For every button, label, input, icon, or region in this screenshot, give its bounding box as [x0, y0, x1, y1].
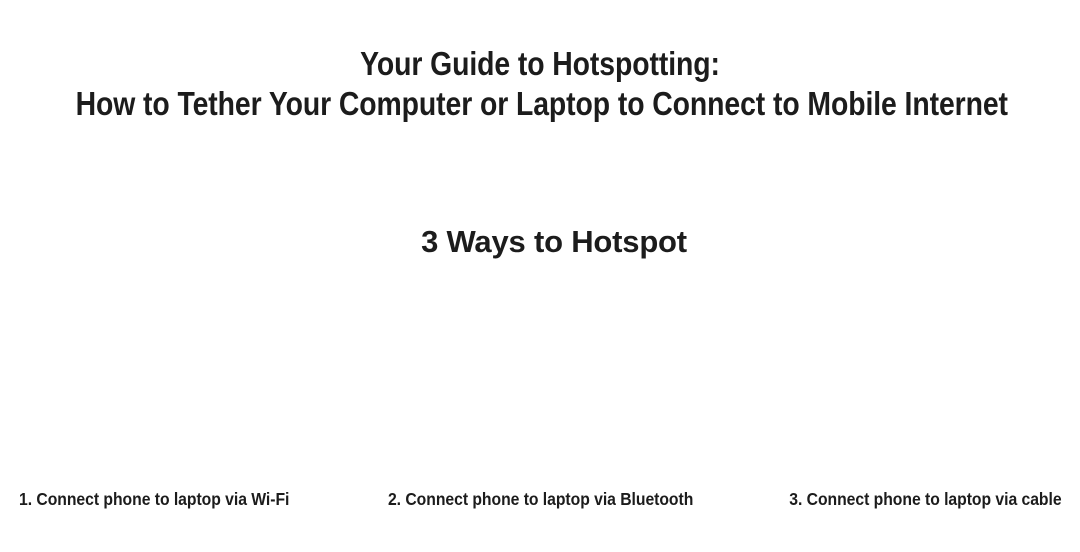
infographic-page: Your Guide to Hotspotting: How to Tether…	[0, 0, 1080, 552]
illustration-slot-cable	[720, 286, 1080, 482]
illustration-slot-bluetooth	[360, 286, 720, 482]
step-caption-1: 1. Connect phone to laptop via Wi-Fi	[19, 487, 289, 511]
step-item-2: 2. Connect phone to laptop via Bluetooth	[367, 487, 715, 511]
illustration-band	[0, 286, 1080, 482]
illustration-slot-wifi	[0, 286, 360, 482]
step-item-1: 1. Connect phone to laptop via Wi-Fi	[0, 487, 367, 511]
section-heading: 3 Ways to Hotspot	[0, 222, 1080, 262]
step-item-3: 3. Connect phone to laptop via cable	[714, 487, 1080, 511]
step-caption-2: 2. Connect phone to laptop via Bluetooth	[388, 487, 693, 511]
page-title-line-1: Your Guide to Hotspotting:	[76, 44, 1005, 83]
step-caption-row: 1. Connect phone to laptop via Wi-Fi 2. …	[0, 487, 1080, 511]
page-title: Your Guide to Hotspotting: How to Tether…	[0, 44, 1080, 123]
step-caption-3: 3. Connect phone to laptop via cable	[790, 487, 1062, 511]
page-title-line-2: How to Tether Your Computer or Laptop to…	[76, 84, 1005, 123]
